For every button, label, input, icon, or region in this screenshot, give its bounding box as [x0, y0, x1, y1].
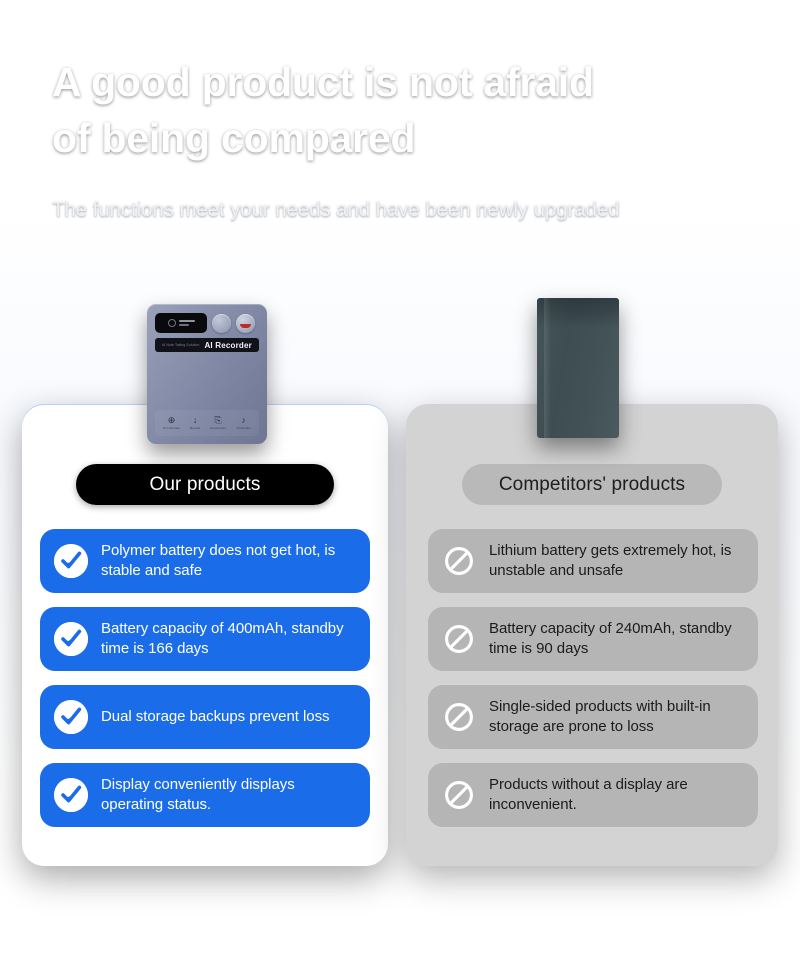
device-function-label: AI Translate	[163, 426, 180, 430]
feature-text: Battery capacity of 400mAh, standby time…	[101, 619, 356, 659]
headline-line-2: of being compared	[52, 111, 772, 167]
page-title: A good product is not afraid of being co…	[52, 55, 772, 167]
list-item: Dual storage backups prevent loss	[40, 685, 370, 749]
device-function-label: Summarize	[210, 426, 226, 430]
our-products-badge: Our products	[76, 464, 334, 505]
device-function-ai-translate: ⊕ AI Translate	[163, 416, 180, 430]
document-icon: ⎘	[215, 416, 222, 425]
feature-text: Products without a display are inconveni…	[489, 775, 744, 815]
device-function-label: Transcribe	[236, 426, 251, 430]
device-function-summarize: ⎘ Summarize	[210, 416, 226, 430]
feature-text: Dual storage backups prevent loss	[101, 707, 329, 727]
headline-line-1: A good product is not afraid	[52, 55, 772, 111]
microphone-icon: ↓	[193, 416, 198, 425]
feature-text: Battery capacity of 240mAh, standby time…	[489, 619, 744, 659]
prohibited-icon	[442, 622, 476, 656]
device-button-record	[236, 314, 255, 333]
feature-text: Lithium battery gets extremely hot, is u…	[489, 541, 744, 581]
check-circle-icon	[54, 778, 88, 812]
list-item: Single-sided products with built-in stor…	[428, 685, 758, 749]
competitor-products-card: Competitors' products Lithium battery ge…	[406, 404, 778, 866]
feature-text: Single-sided products with built-in stor…	[489, 697, 744, 737]
our-products-card: Our products Polymer battery does not ge…	[22, 404, 388, 866]
header: A good product is not afraid of being co…	[52, 55, 772, 223]
prohibited-icon	[442, 700, 476, 734]
competitor-feature-list: Lithium battery gets extremely hot, is u…	[428, 529, 758, 827]
feature-text: Display conveniently displays operating …	[101, 775, 356, 815]
device-screen-line	[179, 320, 195, 322]
device-screen-dial-icon	[168, 319, 176, 327]
list-item: Products without a display are inconveni…	[428, 763, 758, 827]
check-circle-icon	[54, 700, 88, 734]
check-circle-icon	[54, 622, 88, 656]
device-screen-lines	[179, 320, 195, 326]
device-top-bar	[155, 312, 259, 334]
prohibited-icon	[442, 778, 476, 812]
device-function-row: ⊕ AI Translate ↓ Record ⎘ Summarize ♪ Tr…	[155, 410, 259, 436]
list-item: Battery capacity of 400mAh, standby time…	[40, 607, 370, 671]
globe-icon: ⊕	[168, 416, 176, 425]
list-item: Lithium battery gets extremely hot, is u…	[428, 529, 758, 593]
check-circle-icon	[54, 544, 88, 578]
transcribe-icon: ♪	[241, 416, 246, 425]
device-button-primary	[212, 314, 231, 333]
list-item: Battery capacity of 240mAh, standby time…	[428, 607, 758, 671]
feature-text: Polymer battery does not get hot, is sta…	[101, 541, 356, 581]
device-screen	[155, 313, 207, 333]
competitor-product-device	[537, 298, 619, 438]
device-function-transcribe: ♪ Transcribe	[236, 416, 251, 430]
our-product-device: AI Note Taking Solution AI Recorder ⊕ AI…	[147, 304, 267, 444]
device-function-label: Record	[190, 426, 200, 430]
page-subtitle: The functions meet your needs and have b…	[52, 197, 772, 224]
device-brand-label: AI Recorder	[204, 341, 252, 350]
list-item: Polymer battery does not get hot, is sta…	[40, 529, 370, 593]
list-item: Display conveniently displays operating …	[40, 763, 370, 827]
device-brand-bar: AI Note Taking Solution AI Recorder	[155, 338, 259, 352]
device-function-record: ↓ Record	[190, 416, 200, 430]
our-products-feature-list: Polymer battery does not get hot, is sta…	[40, 529, 370, 827]
device-screen-line	[179, 324, 189, 326]
device-brand-sublabel: AI Note Taking Solution	[162, 343, 199, 347]
competitor-products-badge: Competitors' products	[462, 464, 722, 505]
prohibited-icon	[442, 544, 476, 578]
